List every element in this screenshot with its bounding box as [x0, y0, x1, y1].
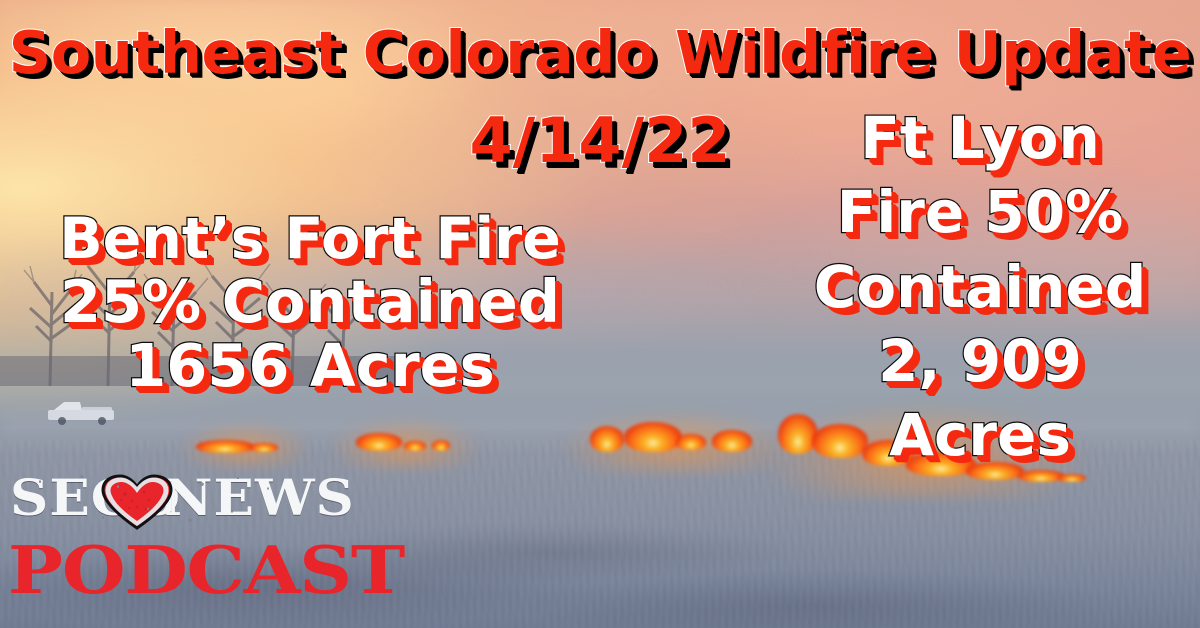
bents-fort-fire-block: Bent’s Fort Fire 25% Contained 1656 Acre…: [0, 210, 620, 396]
bents-fort-fire-name: Bent’s Fort Fire: [0, 210, 620, 269]
bents-fort-containment: 25% Contained: [0, 271, 620, 332]
logo-podcast-text: PODCAST: [8, 532, 404, 609]
heart-icon: [101, 474, 173, 530]
logo-news-text: NEWS: [164, 468, 355, 527]
ft-lyon-fire-block: Ft Lyon Fire 50% Contained 2, 909 Acres: [760, 108, 1200, 466]
ft-lyon-acres-number: 2, 909: [760, 331, 1200, 391]
ft-lyon-containment: Contained: [760, 257, 1200, 317]
ft-lyon-fire-name-line1: Ft Lyon: [760, 108, 1200, 168]
logo-brand-row: SECO NEWS: [4, 468, 304, 530]
bents-fort-acres: 1656 Acres: [0, 335, 620, 396]
ft-lyon-acres-unit: Acres: [760, 405, 1200, 465]
seco-news-podcast-logo[interactable]: SECO NEWS PODCAST: [4, 468, 304, 618]
wildfire-update-poster: Southeast Colorado Wildfire Update 4/14/…: [0, 0, 1200, 628]
ft-lyon-fire-name-line2: Fire 50%: [760, 182, 1200, 242]
page-title: Southeast Colorado Wildfire Update: [0, 18, 1200, 87]
